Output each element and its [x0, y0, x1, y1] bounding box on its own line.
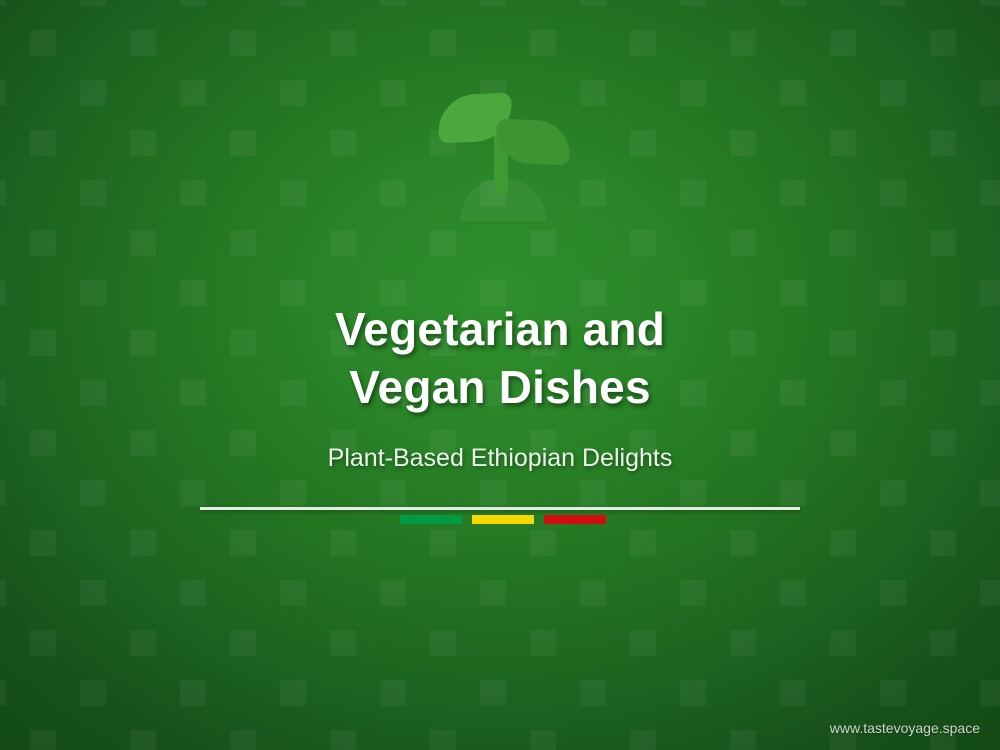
presentation-slide: Vegetarian and Vegan Dishes Plant-Based …: [0, 0, 1000, 750]
accent-bar-yellow: [472, 515, 534, 524]
accent-bar-red: [544, 515, 606, 524]
accent-bar-green: [400, 515, 462, 524]
divider-line: [200, 507, 800, 510]
slide-subtitle: Plant-Based Ethiopian Delights: [0, 444, 1000, 473]
slide-title-line-1: Vegetarian and: [0, 300, 1000, 358]
footer-url: www.tastevoyage.space: [830, 720, 980, 736]
slide-title: Vegetarian and Vegan Dishes: [0, 300, 1000, 416]
accent-bar-group: [400, 515, 606, 524]
sprout-icon: [432, 82, 572, 230]
slide-title-line-2: Vegan Dishes: [0, 358, 1000, 416]
